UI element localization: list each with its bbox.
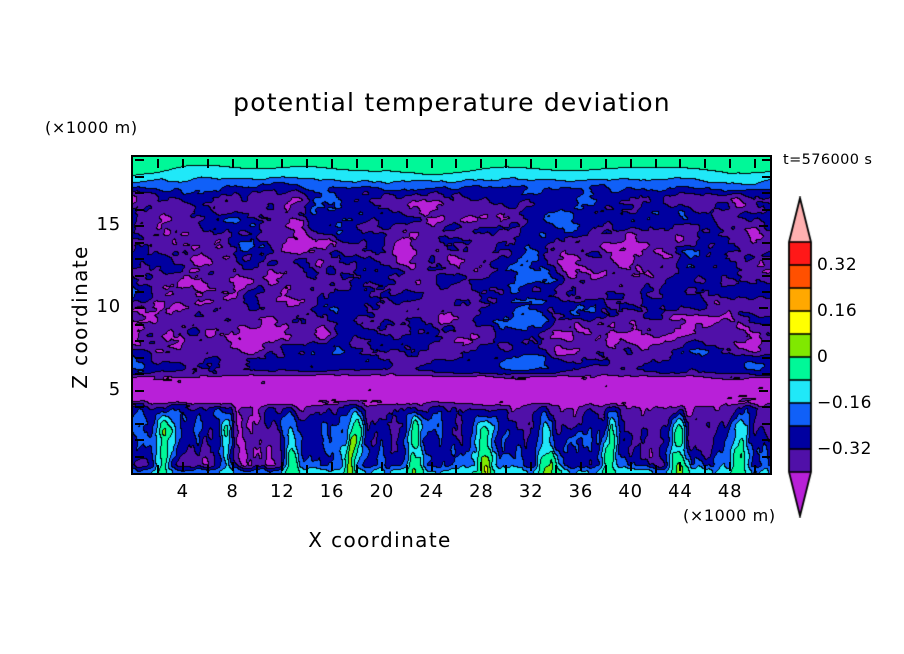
colorbar-label: −0.32 [817, 439, 872, 459]
y-tick-minor-right [762, 176, 771, 178]
y-tick-major-right [759, 307, 768, 309]
x-tick-major-top [679, 159, 681, 168]
x-tick-major [530, 462, 532, 471]
page-title: potential temperature deviation [0, 88, 904, 117]
x-tick-major [431, 462, 433, 471]
x-tick-minor [655, 465, 657, 474]
y-tick-minor [135, 406, 144, 408]
x-tick-major-top [530, 159, 532, 168]
y-tick-minor [135, 340, 144, 342]
x-tick-major-top [381, 159, 383, 168]
y-tick-minor [135, 209, 144, 211]
x-tick-major-top [630, 159, 632, 168]
colorbar-label: 0.16 [817, 301, 857, 321]
x-tick-major-top [431, 159, 433, 168]
y-tick-minor [135, 242, 144, 244]
x-tick-major [182, 462, 184, 471]
x-tick-major [630, 462, 632, 471]
y-tick-minor-right [762, 439, 771, 441]
x-tick-minor-top [605, 159, 607, 168]
x-tick-minor [505, 465, 507, 474]
x-tick-major-top [729, 159, 731, 168]
colorbar-label: 0 [817, 347, 828, 367]
x-tick-minor-top [704, 159, 706, 168]
y-axis-units-label: (×1000 m) [45, 118, 138, 137]
y-tick-minor [135, 456, 144, 458]
y-tick-minor [135, 357, 144, 359]
y-tick-minor-right [762, 159, 771, 161]
x-tick-minor [306, 465, 308, 474]
x-tick-minor [157, 465, 159, 474]
x-tick-minor [207, 465, 209, 474]
y-tick-minor-right [762, 242, 771, 244]
x-tick-major-top [580, 159, 582, 168]
x-tick-minor-top [555, 159, 557, 168]
y-axis-label: Z coordinate [68, 197, 92, 437]
y-tick-minor [135, 275, 144, 277]
x-tick-major-top [480, 159, 482, 168]
x-tick-minor [356, 465, 358, 474]
colorbar-gradient [783, 196, 817, 518]
y-tick-minor-right [762, 357, 771, 359]
colorbar-label: 0.32 [817, 255, 857, 275]
x-tick-major [232, 462, 234, 471]
y-tick-minor-right [762, 340, 771, 342]
y-tick-major [135, 225, 144, 227]
y-tick-major-right [759, 225, 768, 227]
x-tick-minor-top [157, 159, 159, 168]
x-tick-major [729, 462, 731, 471]
x-tick-major-top [281, 159, 283, 168]
x-tick-minor [754, 465, 756, 474]
y-tick-minor-right [762, 209, 771, 211]
y-tick-minor [135, 176, 144, 178]
x-tick-minor [555, 465, 557, 474]
y-tick-minor-right [762, 258, 771, 260]
x-tick-minor [406, 465, 408, 474]
x-tick-minor-top [306, 159, 308, 168]
y-tick-minor [135, 324, 144, 326]
x-tick-minor-top [207, 159, 209, 168]
x-tick-minor-top [655, 159, 657, 168]
y-tick-minor-right [762, 423, 771, 425]
x-tick-minor-top [505, 159, 507, 168]
figure-canvas: potential temperature deviation (×1000 m… [0, 0, 904, 654]
x-axis-units-label: (×1000 m) [683, 506, 776, 525]
y-tick-minor-right [762, 324, 771, 326]
y-tick-major-right [759, 390, 768, 392]
y-tick-major [135, 307, 144, 309]
time-annotation: t=576000 s [783, 152, 872, 168]
x-tick-major [331, 462, 333, 471]
x-tick-major [381, 462, 383, 471]
y-tick-minor [135, 192, 144, 194]
x-tick-major-top [232, 159, 234, 168]
x-tick-minor-top [754, 159, 756, 168]
x-tick-major [480, 462, 482, 471]
x-tick-label: 48 [700, 481, 760, 502]
colorbar [783, 196, 817, 518]
y-tick-minor [135, 373, 144, 375]
y-tick-minor-right [762, 192, 771, 194]
y-tick-minor [135, 258, 144, 260]
y-tick-minor-right [762, 456, 771, 458]
y-tick-minor [135, 291, 144, 293]
x-tick-minor [704, 465, 706, 474]
y-tick-minor-right [762, 406, 771, 408]
y-tick-minor [135, 423, 144, 425]
y-tick-minor-right [762, 373, 771, 375]
y-tick-minor [135, 439, 144, 441]
x-tick-minor-top [256, 159, 258, 168]
x-tick-major [679, 462, 681, 471]
x-tick-minor [455, 465, 457, 474]
x-tick-major-top [182, 159, 184, 168]
y-tick-minor [135, 159, 144, 161]
y-tick-minor-right [762, 275, 771, 277]
x-tick-minor-top [406, 159, 408, 168]
contour-field [133, 157, 770, 473]
x-tick-major [580, 462, 582, 471]
x-tick-minor [605, 465, 607, 474]
x-tick-major-top [331, 159, 333, 168]
x-tick-minor-top [455, 159, 457, 168]
plot-area [133, 157, 770, 473]
x-tick-minor-top [356, 159, 358, 168]
x-axis-label: X coordinate [0, 528, 760, 552]
y-tick-major [135, 390, 144, 392]
y-tick-minor-right [762, 291, 771, 293]
colorbar-label: −0.16 [817, 393, 872, 413]
x-tick-minor [256, 465, 258, 474]
x-tick-major [281, 462, 283, 471]
